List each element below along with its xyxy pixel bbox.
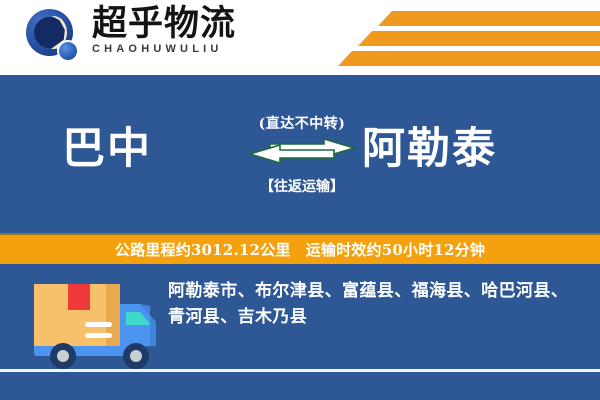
delivery-truck-svg [28,274,170,374]
round-trip-note: 【往返运输】 [232,176,372,196]
speed-stripe-bottom [338,51,600,66]
brand-lockup: 超乎物流 CHAOHUWULIU [92,6,272,55]
truck-rear-hub [57,350,69,362]
speed-stripe-middle [358,31,600,46]
speed-stripes-icon [378,11,600,26]
banner-header: 超乎物流 CHAOHUWULIU [0,0,600,75]
bottom-divider [0,369,600,372]
circle-crescent-logo-icon [26,9,82,65]
origin-city-label: 巴中 [62,123,152,175]
truck-label-line-2 [85,333,112,338]
distance-duration-bar: 公路里程约3012.12公里 运输时效约50小时12分钟 [0,233,600,264]
coverage-areas-text: 阿勒泰市、布尔津县、富蕴县、福海县、哈巴河县、青河县、吉木乃县 [168,278,582,330]
destination-city-label: 阿勒泰 [362,123,497,175]
brand-name-en: CHAOHUWULIU [92,43,272,55]
delivery-truck-icon [28,274,170,374]
truck-front-hub [130,350,142,362]
logo-accent-dot [57,40,79,62]
direct-shipping-note: (直达不中转) [232,113,372,133]
truck-label-line-1 [85,322,112,327]
coverage-section: 阿勒泰市、布尔津县、富蕴县、福海县、哈巴河县、青河县、吉木乃县 [0,264,600,400]
bidirectional-arrow-svg [232,138,372,172]
route-middle-group: (直达不中转) 【往返运输】 [232,113,372,196]
logistics-route-banner: 超乎物流 CHAOHUWULIU 巴中 (直达不中转) 【往返运输】 阿勒泰 [0,0,600,400]
brand-name-cn: 超乎物流 [92,6,272,42]
route-band: 巴中 (直达不中转) 【往返运输】 阿勒泰 [0,75,600,231]
bidirectional-arrow-icon [232,138,372,172]
distance-duration-text: 公路里程约3012.12公里 运输时效约50小时12分钟 [115,239,485,260]
truck-box-seal [68,284,90,310]
